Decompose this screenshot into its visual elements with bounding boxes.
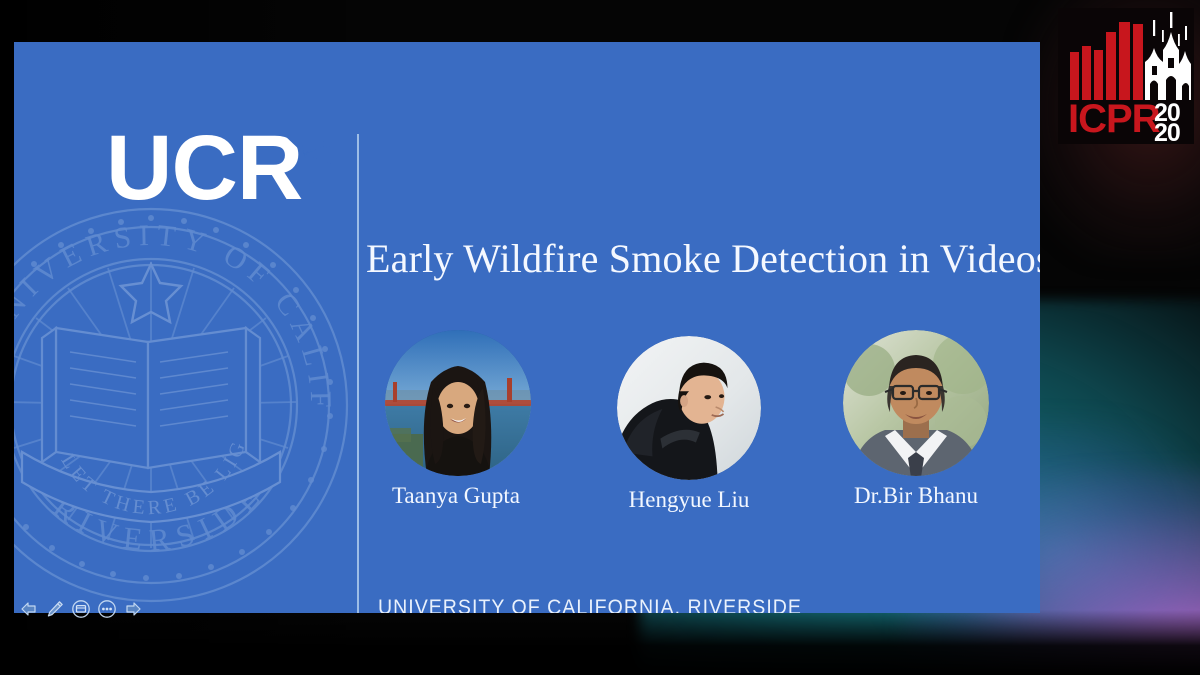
avatar xyxy=(843,330,989,476)
ucr-seal-watermark: UNIVERSITY OF CALIFORNIA RIVERSIDE xyxy=(14,190,366,613)
slide-view-button[interactable] xyxy=(70,598,92,620)
previous-slide-button[interactable] xyxy=(18,598,40,620)
background-bottom-fade xyxy=(0,610,1200,675)
screen-share-stage: UNIVERSITY OF CALIFORNIA RIVERSIDE xyxy=(0,0,1200,675)
sunburst-icon xyxy=(274,124,338,188)
icpr-2020-logo: ICPR 20 20 xyxy=(1058,8,1194,144)
avatar xyxy=(385,330,531,476)
next-slide-button[interactable] xyxy=(122,598,144,620)
author-item: Hengyue Liu xyxy=(609,336,769,514)
author-item: Dr.Bir Bhanu xyxy=(836,330,996,510)
author-name: Hengyue Liu xyxy=(609,486,769,514)
author-name: Dr.Bir Bhanu xyxy=(836,482,996,510)
author-name: Taanya Gupta xyxy=(374,482,538,510)
svg-text:20: 20 xyxy=(1154,119,1180,144)
author-item: Taanya Gupta xyxy=(378,330,538,510)
ucr-logo: UCR xyxy=(106,120,346,220)
more-options-button[interactable] xyxy=(96,598,118,620)
presentation-slide[interactable]: UNIVERSITY OF CALIFORNIA RIVERSIDE xyxy=(14,42,1040,613)
affiliation-text: UNIVERSITY OF CALIFORNIA, RIVERSIDE xyxy=(378,595,802,613)
avatar xyxy=(617,336,761,480)
slide-title: Early Wildfire Smoke Detection in Videos xyxy=(366,234,1040,284)
author-list: Taanya Gupta xyxy=(366,330,1026,520)
presentation-toolbar[interactable] xyxy=(18,598,144,620)
ucr-wordmark: UCR xyxy=(106,120,302,216)
icpr-acronym: ICPR xyxy=(1068,97,1161,141)
vertical-divider xyxy=(357,134,359,613)
pen-annotation-button[interactable] xyxy=(44,598,66,620)
